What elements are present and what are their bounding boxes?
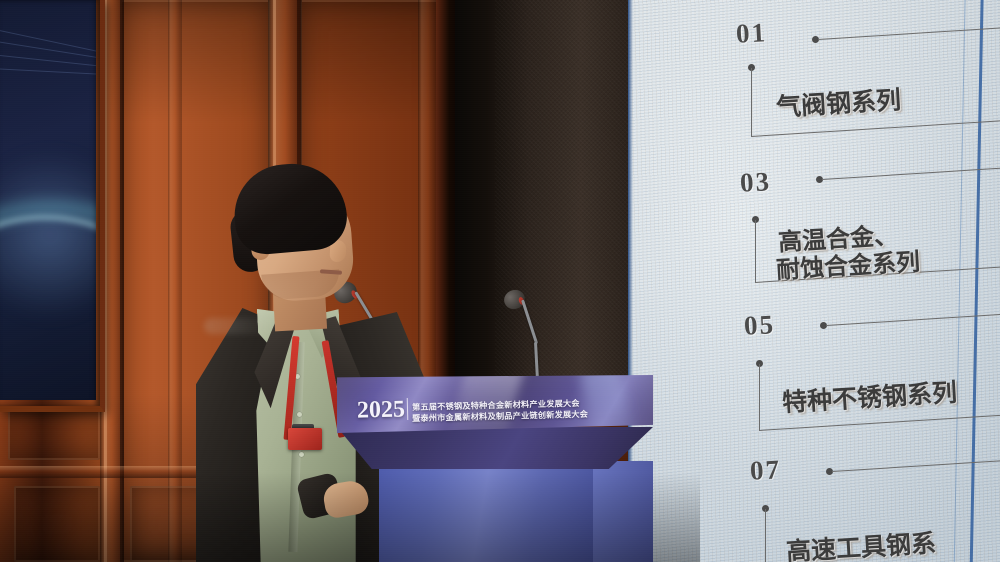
hair bbox=[230, 159, 349, 256]
shoulder-highlight bbox=[204, 318, 276, 334]
slide-label: 气阀钢系列 bbox=[775, 80, 902, 123]
slide-vertical-line bbox=[759, 364, 760, 430]
slide-number: 01 bbox=[735, 17, 768, 50]
slide-number: 05 bbox=[743, 309, 776, 342]
lectern-body-side bbox=[593, 461, 653, 562]
lectern-year: 2025 bbox=[357, 396, 406, 424]
speaker-grille-mesh bbox=[495, 0, 630, 408]
wall-lower-panel bbox=[8, 410, 100, 460]
slide-vertical-line bbox=[765, 509, 766, 562]
lectern-body bbox=[379, 463, 593, 562]
name-badge bbox=[288, 428, 322, 450]
screenshot-root: 01 气阀钢系列 03 高温合金、 耐蚀合金系列 05 bbox=[0, 0, 1000, 562]
slide-vertical-line bbox=[755, 220, 756, 282]
lectern-skirt bbox=[337, 427, 653, 469]
lectern: 2025 第五届不锈钢及特种合金新材料产业发展大会 暨泰州市金属新材料及制品产业… bbox=[337, 375, 653, 562]
left-display-frame bbox=[0, 0, 105, 412]
shirt-button bbox=[297, 412, 302, 417]
slide-number: 07 bbox=[749, 454, 782, 487]
presentation-screen: 01 气阀钢系列 03 高温合金、 耐蚀合金系列 05 bbox=[628, 0, 1000, 562]
slide-number: 03 bbox=[739, 166, 772, 199]
wall-lower-panel bbox=[14, 486, 100, 562]
slide-vertical-line bbox=[751, 68, 752, 136]
shirt-button bbox=[299, 452, 304, 457]
